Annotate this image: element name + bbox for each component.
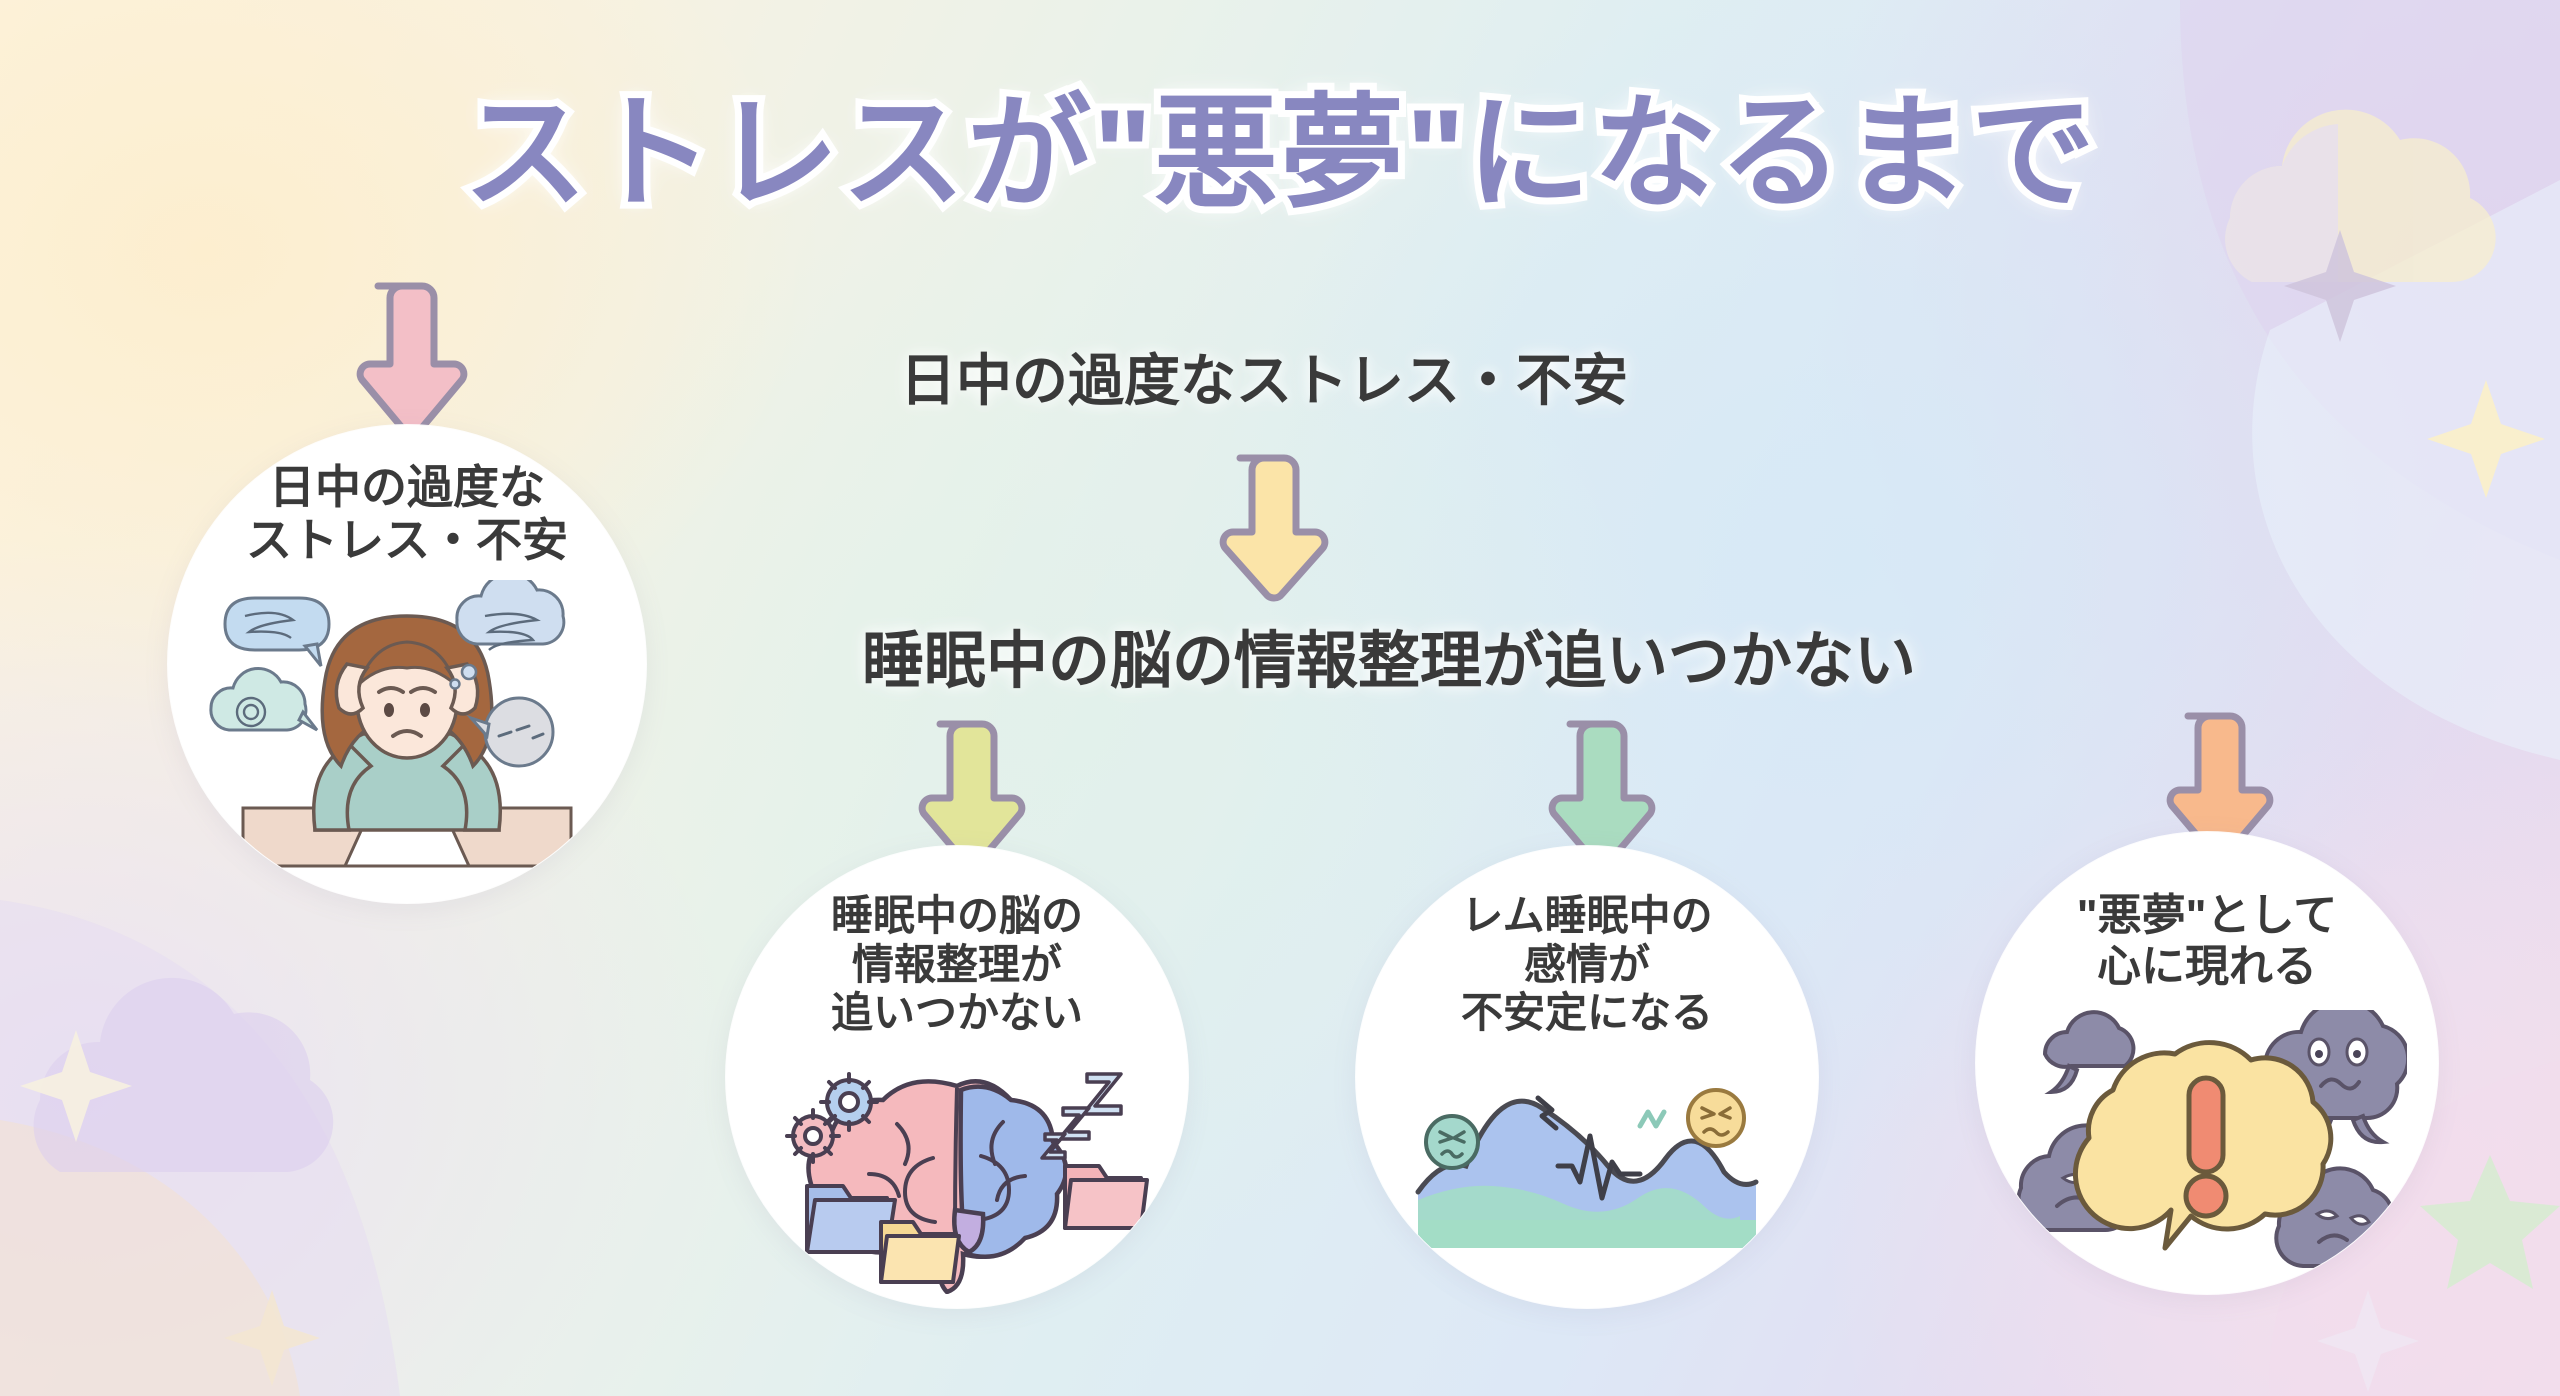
node-rem-emotion-instability[interactable]: レム睡眠中の 感情が 不安定になる — [1356, 846, 1818, 1308]
face-icon-distressed-teal — [1426, 1116, 1478, 1168]
cloud-bottom-left — [34, 978, 334, 1172]
sleep-zzz-icon — [1042, 1074, 1121, 1158]
node-2-label: 睡眠中の脳の 情報整理が 追いつかない — [831, 892, 1083, 1038]
arrow-to-node-1 — [330, 278, 470, 438]
face-icon-distressed-yellow — [1688, 1090, 1744, 1146]
sparkle-mid-right — [2427, 380, 2545, 498]
sparkle-bottom-left-2 — [224, 1290, 320, 1386]
flow-text-brain-overload: 睡眠中の脳の情報整理が追いつかない — [862, 610, 1916, 700]
sparkle-top-right — [2284, 230, 2396, 342]
gear-icon-pink — [787, 1110, 839, 1162]
node-nightmare-appears[interactable]: "悪夢"として 心に現れる — [1976, 832, 2438, 1294]
flow-text-daytime-stress: 日中の過度なストレス・不安 — [900, 336, 1628, 417]
sparkle-bottom-right — [2317, 1290, 2419, 1392]
folder-icon-pink — [1065, 1166, 1147, 1228]
stressed-person-illustration — [197, 580, 617, 880]
node-3-label: レム睡眠中の 感情が 不安定になる — [1461, 892, 1713, 1038]
infographic-canvas: ストレスが"悪夢"になるまで 日中の過度なストレス・不安 睡眠中の脳の情報整理が… — [0, 0, 2560, 1396]
node-daytime-stress[interactable]: 日中の過度な ストレス・不安 — [168, 425, 646, 903]
node-brain-overload[interactable]: 睡眠中の脳の 情報整理が 追いつかない — [726, 846, 1188, 1308]
star-right — [2420, 1155, 2560, 1289]
emotion-wave-illustration — [1402, 1070, 1772, 1280]
brain-folders-illustration — [757, 1064, 1157, 1294]
arrow-stress-to-brain — [1190, 450, 1334, 602]
node-1-label: 日中の過度な ストレス・不安 — [246, 461, 568, 568]
node-4-label: "悪夢"として 心に現れる — [2077, 890, 2337, 992]
page-title: ストレスが"悪夢"になるまで — [0, 52, 2560, 232]
sparkle-bottom-left — [20, 1030, 132, 1142]
nightmare-bubble-illustration — [2007, 1010, 2407, 1270]
